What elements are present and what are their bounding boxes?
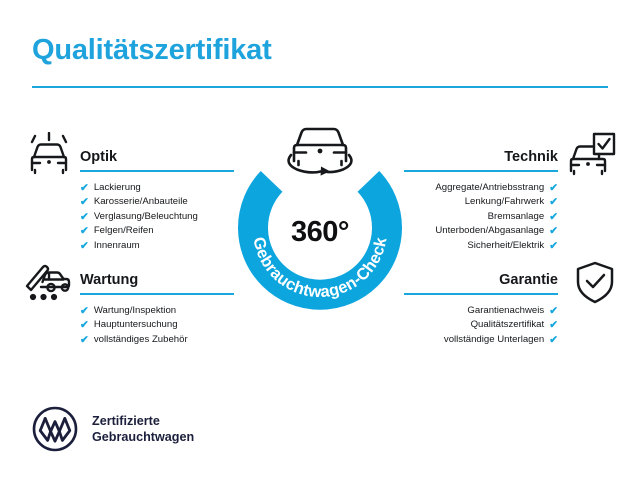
section-divider-optik xyxy=(80,170,234,172)
list-item-label: Sicherheit/Elektrik xyxy=(467,239,544,253)
badge-360-gebrauchtwagen-check: Gebrauchtwagen-Check xyxy=(224,112,416,312)
check-icon: ✔ xyxy=(549,226,558,237)
list-item-label: vollständiges Zubehör xyxy=(94,333,188,347)
check-icon: ✔ xyxy=(549,306,558,317)
list-item-label: Lackierung xyxy=(94,181,141,195)
list-item-label: Felgen/Reifen xyxy=(94,224,154,238)
section-heading-garantie: Garantie xyxy=(404,271,558,289)
list-item: ✔Karosserie/Anbauteile xyxy=(80,195,234,209)
section-divider-technik xyxy=(404,170,558,172)
car-rotate-360-icon xyxy=(289,129,352,176)
list-item: Qualitätszertifikat✔ xyxy=(404,318,558,332)
check-icon: ✔ xyxy=(80,183,89,194)
section-optik: Optik ✔Lackierung ✔Karosserie/Anbauteile… xyxy=(80,148,234,253)
list-item: ✔Lackierung xyxy=(80,181,234,195)
header-divider xyxy=(32,86,608,88)
list-item: ✔Innenraum xyxy=(80,239,234,253)
shield-check-icon xyxy=(574,261,616,305)
list-item: ✔vollständiges Zubehör xyxy=(80,333,234,347)
brand-line-2: Gebrauchtwagen xyxy=(92,429,194,445)
check-icon: ✔ xyxy=(80,197,89,208)
volkswagen-logo xyxy=(32,406,78,452)
list-item-label: Karosserie/Anbauteile xyxy=(94,195,188,209)
check-icon: ✔ xyxy=(549,335,558,346)
section-heading-optik: Optik xyxy=(80,148,234,166)
section-divider-garantie xyxy=(404,293,558,295)
car-shine-icon xyxy=(26,132,72,176)
list-item-label: Verglasung/Beleuchtung xyxy=(94,210,198,224)
list-item: Bremsanlage✔ xyxy=(404,210,558,224)
section-technik: Technik Aggregate/Antriebsstrang✔ Lenkun… xyxy=(404,148,558,253)
list-item: ✔Hauptuntersuchung xyxy=(80,318,234,332)
check-icon: ✔ xyxy=(80,212,89,223)
section-wartung: Wartung ✔Wartung/Inspektion ✔Hauptunters… xyxy=(80,271,234,347)
check-icon: ✔ xyxy=(80,241,89,252)
page-title: Qualitätszertifikat xyxy=(32,34,272,67)
list-item: Lenkung/Fahrwerk✔ xyxy=(404,195,558,209)
list-item-label: Lenkung/Fahrwerk xyxy=(465,195,544,209)
list-item: ✔Felgen/Reifen xyxy=(80,224,234,238)
car-checkbox-icon xyxy=(568,132,616,176)
checklist-technik: Aggregate/Antriebsstrang✔ Lenkung/Fahrwe… xyxy=(404,181,558,253)
check-icon: ✔ xyxy=(80,306,89,317)
list-item: Garantienachweis✔ xyxy=(404,304,558,318)
checklist-garantie: Garantienachweis✔ Qualitätszertifikat✔ v… xyxy=(404,304,558,347)
qualitaetszertifikat-page: Qualitätszertifikat Optik ✔Lackierung xyxy=(0,0,640,480)
section-divider-wartung xyxy=(80,293,234,295)
check-icon: ✔ xyxy=(549,241,558,252)
check-icon: ✔ xyxy=(80,226,89,237)
list-item-label: Wartung/Inspektion xyxy=(94,304,176,318)
section-heading-wartung: Wartung xyxy=(80,271,234,289)
list-item-label: Bremsanlage xyxy=(488,210,545,224)
badge-center-text: 360° xyxy=(224,216,416,249)
check-icon: ✔ xyxy=(80,335,89,346)
list-item: Sicherheit/Elektrik✔ xyxy=(404,239,558,253)
list-item-label: Hauptuntersuchung xyxy=(94,318,178,332)
list-item: ✔Verglasung/Beleuchtung xyxy=(80,210,234,224)
check-icon: ✔ xyxy=(80,320,89,331)
check-icon: ✔ xyxy=(549,197,558,208)
wrench-car-service-icon xyxy=(24,261,72,303)
brand-lockup-text: Zertifizierte Gebrauchtwagen xyxy=(92,413,194,445)
list-item-label: Qualitätszertifikat xyxy=(471,318,545,332)
list-item-label: Unterboden/Abgasanlage xyxy=(435,224,544,238)
list-item-label: Garantienachweis xyxy=(467,304,544,318)
list-item: ✔Wartung/Inspektion xyxy=(80,304,234,318)
list-item-label: Aggregate/Antriebsstrang xyxy=(435,181,544,195)
list-item: vollständige Unterlagen✔ xyxy=(404,333,558,347)
section-heading-technik: Technik xyxy=(404,148,558,166)
list-item-label: Innenraum xyxy=(94,239,140,253)
brand-lockup: Zertifizierte Gebrauchtwagen xyxy=(32,406,194,452)
brand-line-1: Zertifizierte xyxy=(92,413,194,429)
list-item: Aggregate/Antriebsstrang✔ xyxy=(404,181,558,195)
list-item: Unterboden/Abgasanlage✔ xyxy=(404,224,558,238)
check-icon: ✔ xyxy=(549,320,558,331)
check-icon: ✔ xyxy=(549,183,558,194)
check-icon: ✔ xyxy=(549,212,558,223)
section-garantie: Garantie Garantienachweis✔ Qualitätszert… xyxy=(404,271,558,347)
checklist-optik: ✔Lackierung ✔Karosserie/Anbauteile ✔Verg… xyxy=(80,181,234,253)
list-item-label: vollständige Unterlagen xyxy=(444,333,544,347)
checklist-wartung: ✔Wartung/Inspektion ✔Hauptuntersuchung ✔… xyxy=(80,304,234,347)
